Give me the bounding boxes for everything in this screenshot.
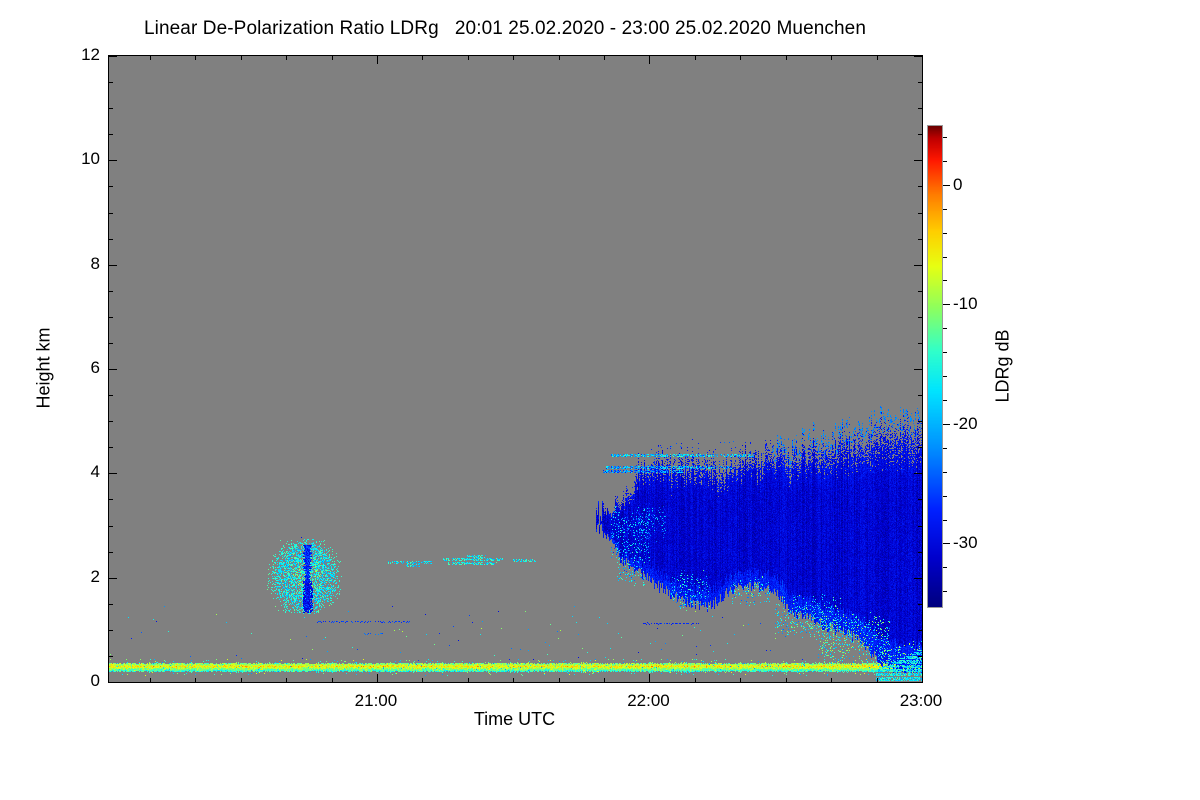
y-tick-minor xyxy=(918,656,923,657)
x-tick-label: 23:00 xyxy=(876,691,966,711)
x-tick-minor xyxy=(195,55,196,60)
y-tick-minor xyxy=(108,213,113,214)
y-tick-minor xyxy=(108,630,113,631)
x-tick-minor xyxy=(877,55,878,60)
y-tick-label: 12 xyxy=(40,45,100,65)
y-tick-minor xyxy=(108,291,113,292)
y-tick-major xyxy=(108,369,117,370)
x-tick-minor xyxy=(513,55,514,60)
colorbar-tick-minor xyxy=(943,328,947,329)
colorbar-tick-minor xyxy=(943,280,947,281)
y-tick-major xyxy=(108,265,117,266)
y-tick-minor xyxy=(108,82,113,83)
colorbar-tick-minor xyxy=(943,137,947,138)
y-tick-minor xyxy=(108,604,113,605)
x-tick-minor xyxy=(695,55,696,60)
y-tick-major xyxy=(914,369,923,370)
page-title: Linear De-Polarization Ratio LDRg 20:01 … xyxy=(0,18,1010,40)
x-tick-minor xyxy=(422,678,423,683)
y-tick-minor xyxy=(918,213,923,214)
y-tick-minor xyxy=(918,186,923,187)
colorbar-tick-major xyxy=(943,424,950,425)
y-tick-minor xyxy=(108,499,113,500)
y-tick-label: 10 xyxy=(40,149,100,169)
x-tick-minor xyxy=(740,678,741,683)
x-tick-minor xyxy=(332,55,333,60)
y-tick-minor xyxy=(108,239,113,240)
colorbar-tick-label: -10 xyxy=(953,294,978,314)
y-tick-major xyxy=(914,160,923,161)
x-tick-minor xyxy=(740,55,741,60)
y-tick-minor xyxy=(918,447,923,448)
y-tick-minor xyxy=(108,526,113,527)
y-tick-minor xyxy=(918,499,923,500)
y-tick-major xyxy=(108,160,117,161)
y-tick-minor xyxy=(918,343,923,344)
y-tick-minor xyxy=(108,395,113,396)
colorbar-tick-minor xyxy=(943,591,947,592)
y-tick-minor xyxy=(108,447,113,448)
colorbar-tick-minor xyxy=(943,233,947,234)
x-tick-minor xyxy=(831,55,832,60)
y-tick-major xyxy=(108,473,117,474)
y-tick-major xyxy=(108,682,117,683)
y-tick-major xyxy=(914,473,923,474)
x-tick-major xyxy=(649,55,650,64)
y-tick-minor xyxy=(918,526,923,527)
x-tick-minor xyxy=(422,55,423,60)
y-tick-minor xyxy=(108,134,113,135)
x-tick-minor xyxy=(332,678,333,683)
y-tick-minor xyxy=(918,239,923,240)
x-tick-minor xyxy=(831,678,832,683)
y-tick-minor xyxy=(918,552,923,553)
colorbar-tick-major xyxy=(943,304,950,305)
colorbar-tick-label: -30 xyxy=(953,533,978,553)
x-tick-minor xyxy=(877,678,878,683)
x-tick-minor xyxy=(286,678,287,683)
colorbar-tick-minor xyxy=(943,567,947,568)
x-tick-minor xyxy=(195,678,196,683)
x-tick-major xyxy=(377,674,378,683)
y-tick-minor xyxy=(108,317,113,318)
colorbar-tick-label: 0 xyxy=(953,175,962,195)
x-tick-minor xyxy=(786,678,787,683)
y-tick-minor xyxy=(918,291,923,292)
x-tick-major xyxy=(922,55,923,64)
y-tick-minor xyxy=(108,343,113,344)
x-axis-title: Time UTC xyxy=(108,709,921,730)
x-tick-minor xyxy=(513,678,514,683)
colorbar[interactable] xyxy=(927,125,943,608)
colorbar-tick-minor xyxy=(943,400,947,401)
x-tick-minor xyxy=(695,678,696,683)
x-tick-label: 22:00 xyxy=(603,691,693,711)
y-tick-minor xyxy=(108,108,113,109)
colorbar-tick-major xyxy=(943,543,950,544)
y-tick-major xyxy=(108,578,117,579)
colorbar-tick-major xyxy=(943,185,950,186)
x-tick-minor xyxy=(241,55,242,60)
y-tick-minor xyxy=(918,82,923,83)
x-tick-minor xyxy=(468,55,469,60)
x-tick-minor xyxy=(604,55,605,60)
colorbar-tick-minor xyxy=(943,496,947,497)
y-tick-minor xyxy=(918,134,923,135)
x-tick-major xyxy=(649,674,650,683)
y-tick-label: 4 xyxy=(40,462,100,482)
y-tick-minor xyxy=(918,630,923,631)
y-tick-label: 0 xyxy=(40,671,100,691)
x-tick-minor xyxy=(286,55,287,60)
y-tick-label: 8 xyxy=(40,254,100,274)
y-tick-minor xyxy=(918,604,923,605)
colorbar-tick-minor xyxy=(943,376,947,377)
y-tick-minor xyxy=(918,421,923,422)
y-tick-minor xyxy=(918,108,923,109)
x-tick-label: 21:00 xyxy=(331,691,421,711)
x-tick-minor xyxy=(468,678,469,683)
colorbar-title: LDRg dB xyxy=(993,329,1014,402)
y-tick-minor xyxy=(108,656,113,657)
y-tick-minor xyxy=(918,317,923,318)
x-tick-major xyxy=(377,55,378,64)
colorbar-tick-minor xyxy=(943,257,947,258)
x-tick-minor xyxy=(150,678,151,683)
y-tick-major xyxy=(108,56,117,57)
y-tick-label: 2 xyxy=(40,567,100,587)
colorbar-tick-minor xyxy=(943,448,947,449)
colorbar-tick-minor xyxy=(943,472,947,473)
x-tick-minor xyxy=(604,678,605,683)
colorbar-gradient xyxy=(927,125,943,608)
colorbar-tick-minor xyxy=(943,209,947,210)
x-tick-minor xyxy=(241,678,242,683)
x-tick-minor xyxy=(559,55,560,60)
x-tick-minor xyxy=(559,678,560,683)
plot-area[interactable] xyxy=(108,55,923,683)
heatmap-canvas[interactable] xyxy=(109,56,922,682)
x-tick-minor xyxy=(150,55,151,60)
y-axis-title: Height km xyxy=(34,327,55,408)
y-tick-minor xyxy=(108,552,113,553)
y-tick-major xyxy=(914,265,923,266)
y-tick-major xyxy=(914,578,923,579)
colorbar-tick-minor xyxy=(943,352,947,353)
colorbar-tick-minor xyxy=(943,161,947,162)
x-tick-minor xyxy=(786,55,787,60)
y-tick-minor xyxy=(108,186,113,187)
x-tick-major xyxy=(922,674,923,683)
figure-root: Linear De-Polarization Ratio LDRg 20:01 … xyxy=(0,0,1200,800)
y-tick-minor xyxy=(108,421,113,422)
y-tick-minor xyxy=(918,395,923,396)
colorbar-tick-label: -20 xyxy=(953,414,978,434)
colorbar-tick-minor xyxy=(943,520,947,521)
